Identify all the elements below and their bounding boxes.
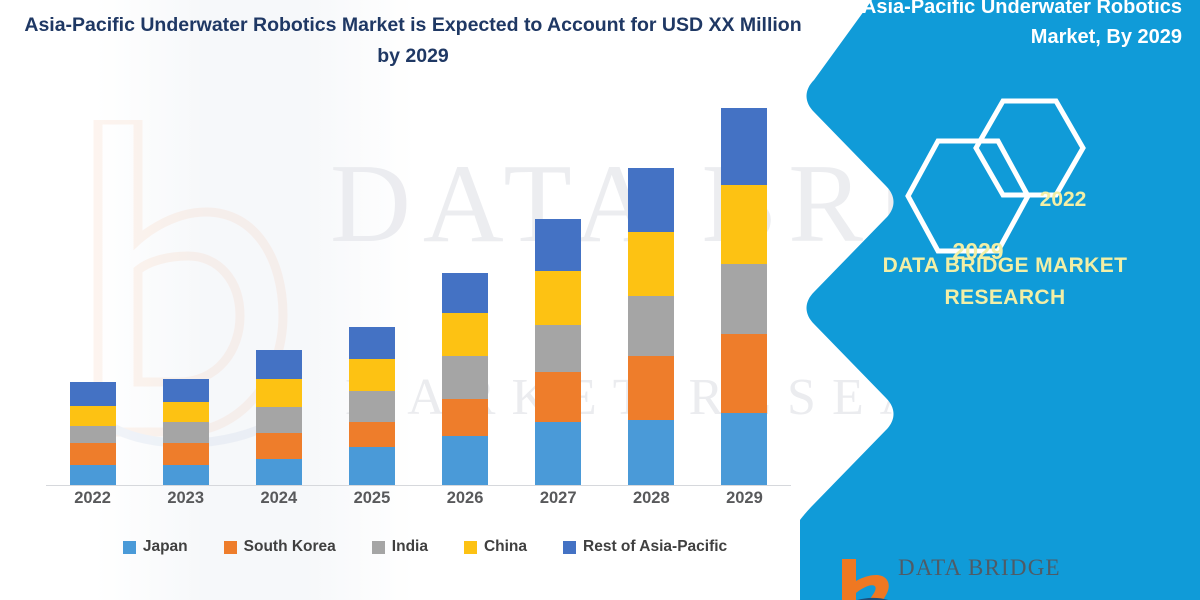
company-logo: DATA BRIDGE — [836, 553, 1096, 600]
hexagon-badges: 2029 2022 — [900, 78, 1200, 238]
bar-segment — [628, 296, 674, 356]
legend-swatch-icon — [123, 541, 136, 554]
brand-name-line2: RESEARCH — [830, 282, 1180, 314]
infographic-page: DATA BRIDGE MARKET RESEARCH Asia-Pacific… — [0, 0, 1200, 600]
x-axis-label: 2024 — [232, 489, 325, 508]
stacked-bar — [256, 350, 302, 485]
bar-segment — [256, 407, 302, 433]
bar-segment — [628, 420, 674, 485]
bar-segment — [70, 443, 116, 464]
bar-segment — [163, 379, 209, 401]
bar-segment — [256, 433, 302, 460]
legend-label: India — [392, 538, 428, 556]
legend-label: China — [484, 538, 527, 556]
plot-area — [46, 100, 791, 486]
bar-segment — [256, 350, 302, 379]
bar-segment — [721, 264, 767, 335]
bar-segment — [442, 356, 488, 400]
bar-group — [46, 100, 791, 485]
chart-legend: JapanSouth KoreaIndiaChinaRest of Asia-P… — [60, 538, 790, 556]
stacked-bar — [349, 327, 395, 485]
page-title: Asia-Pacific Underwater Robotics Market … — [18, 10, 808, 72]
x-axis-label: 2022 — [46, 489, 139, 508]
legend-label: Japan — [143, 538, 188, 556]
bar-segment — [163, 402, 209, 422]
bar-segment — [349, 327, 395, 359]
bar-segment — [628, 232, 674, 296]
x-axis-label: 2028 — [605, 489, 698, 508]
bar-column — [325, 327, 418, 485]
x-axis-tick-labels: 20222023202420252026202720282029 — [46, 489, 791, 508]
legend-item-south-korea[interactable]: South Korea — [224, 538, 336, 556]
bar-segment — [349, 447, 395, 486]
logo-text: DATA BRIDGE — [898, 555, 1061, 581]
hex-label-2022: 2022 — [1008, 188, 1118, 212]
bar-segment — [256, 459, 302, 485]
stacked-bar — [163, 379, 209, 485]
bar-column — [232, 350, 325, 485]
bar-segment — [535, 325, 581, 372]
legend-label: Rest of Asia-Pacific — [583, 538, 727, 556]
stacked-bar — [721, 108, 767, 485]
legend-item-india[interactable]: India — [372, 538, 428, 556]
bar-segment — [442, 399, 488, 435]
bar-segment — [535, 219, 581, 271]
bar-segment — [163, 443, 209, 464]
bar-segment — [70, 406, 116, 426]
bar-segment — [535, 271, 581, 324]
bar-segment — [721, 108, 767, 185]
brand-panel: Asia-Pacific Underwater Robotics Market,… — [800, 0, 1200, 600]
bar-segment — [721, 185, 767, 264]
axis-baseline — [46, 485, 791, 486]
bar-segment — [349, 359, 395, 391]
legend-item-china[interactable]: China — [464, 538, 527, 556]
bar-segment — [535, 372, 581, 422]
bar-segment — [349, 422, 395, 447]
brand-name: DATA BRIDGE MARKET RESEARCH — [830, 250, 1180, 314]
bar-column — [139, 379, 232, 485]
bar-segment — [349, 391, 395, 422]
bar-segment — [628, 356, 674, 420]
stacked-bar — [535, 219, 581, 485]
brand-title: Asia-Pacific Underwater Robotics Market,… — [822, 0, 1190, 52]
stacked-bar — [628, 168, 674, 485]
bar-column — [419, 273, 512, 485]
stacked-bar — [442, 273, 488, 485]
bar-segment — [163, 422, 209, 443]
stacked-bar — [70, 382, 116, 485]
legend-swatch-icon — [464, 541, 477, 554]
bar-segment — [721, 334, 767, 413]
legend-swatch-icon — [224, 541, 237, 554]
bar-segment — [70, 465, 116, 485]
bar-segment — [628, 168, 674, 231]
x-axis-label: 2023 — [139, 489, 232, 508]
chart-panel: Asia-Pacific Underwater Robotics Market … — [0, 0, 860, 600]
bar-column — [46, 382, 139, 485]
x-axis-label: 2029 — [698, 489, 791, 508]
bar-segment — [70, 426, 116, 443]
x-axis-label: 2025 — [325, 489, 418, 508]
x-axis-label: 2026 — [419, 489, 512, 508]
bar-segment — [721, 413, 767, 485]
bar-segment — [442, 273, 488, 313]
bar-segment — [442, 313, 488, 356]
brand-name-line1: DATA BRIDGE MARKET — [830, 250, 1180, 282]
bar-column — [698, 108, 791, 485]
bar-segment — [70, 382, 116, 406]
legend-swatch-icon — [563, 541, 576, 554]
legend-item-rest-of-asia-pacific[interactable]: Rest of Asia-Pacific — [563, 538, 727, 556]
legend-swatch-icon — [372, 541, 385, 554]
bar-segment — [256, 379, 302, 407]
legend-label: South Korea — [244, 538, 336, 556]
bar-column — [512, 219, 605, 485]
bar-segment — [535, 422, 581, 485]
bar-column — [605, 168, 698, 485]
bar-segment — [163, 465, 209, 485]
legend-item-japan[interactable]: Japan — [123, 538, 188, 556]
bar-segment — [442, 436, 488, 485]
x-axis-label: 2027 — [512, 489, 605, 508]
